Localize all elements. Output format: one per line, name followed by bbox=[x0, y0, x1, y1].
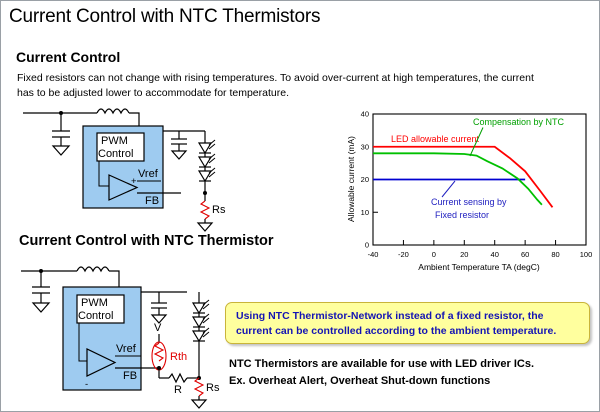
note-line-1: NTC Thermistors are available for use wi… bbox=[229, 356, 589, 373]
circuit2-rs-label: Rs bbox=[206, 382, 220, 394]
y-tick-10: 10 bbox=[361, 208, 369, 217]
y-axis-title: Allowable current (mA) bbox=[346, 136, 356, 222]
current-control-ntc-thermistor-circuit: PWM Control - Vref FB V Rth bbox=[19, 259, 259, 409]
circuit1-fb-label: FB bbox=[145, 195, 159, 207]
circuit1-control-label: Control bbox=[98, 148, 133, 160]
x-tick-0: 0 bbox=[432, 250, 436, 259]
circuit2-control-label: Control bbox=[78, 310, 113, 322]
section-heading-current-control: Current Control bbox=[16, 49, 120, 65]
callout-line-1: Using NTC Thermistor-Network instead of … bbox=[236, 310, 543, 322]
circuit2-r-label: R bbox=[174, 384, 182, 396]
x-tick-20: 20 bbox=[460, 250, 468, 259]
annotation-current-sensing-line2: Fixed resistor bbox=[435, 210, 489, 220]
page-title: Current Control with NTC Thermistors bbox=[9, 6, 320, 28]
slide-canvas: Current Control with NTC Thermistors Cur… bbox=[1, 1, 599, 411]
y-tick-40: 40 bbox=[361, 110, 369, 119]
circuit1-pwm-label: PWM bbox=[101, 135, 128, 147]
callout-line-2: current can be controlled according to t… bbox=[236, 325, 556, 337]
annotation-led-allowable-current: LED allowable current bbox=[391, 134, 480, 144]
x-tick-80: 80 bbox=[551, 250, 559, 259]
bottom-notes: NTC Thermistors are available for use wi… bbox=[229, 356, 589, 389]
note-line-2: Ex. Overheat Alert, Overheat Shut-down f… bbox=[229, 373, 589, 390]
y-tick-30: 30 bbox=[361, 142, 369, 151]
callout-text: Using NTC Thermistor-Network instead of … bbox=[236, 309, 583, 339]
circuit2-v-label: V bbox=[154, 322, 162, 334]
x-tick-60: 60 bbox=[521, 250, 529, 259]
x-tick-m20: -20 bbox=[398, 250, 409, 259]
circuit2-rth-label: Rth bbox=[170, 351, 187, 363]
x-tick-40: 40 bbox=[491, 250, 499, 259]
y-tick-0: 0 bbox=[365, 241, 369, 250]
current-control-fixed-resistor-circuit: PWM Control + Vref FB bbox=[19, 101, 259, 231]
allowable-current-vs-temperature-chart: 0 10 20 30 40 -40 -20 0 20 40 bbox=[343, 99, 595, 289]
callout-box: Using NTC Thermistor-Network instead of … bbox=[225, 302, 590, 344]
circuit2-pwm-label: PWM bbox=[81, 297, 108, 309]
intro-paragraph: Fixed resistors can not change with risi… bbox=[17, 71, 537, 101]
circuit1-vref-label: Vref bbox=[138, 168, 159, 180]
circuit2-opamp-minus: - bbox=[85, 379, 88, 390]
x-axis-title: Ambient Temperature TA (degC) bbox=[418, 262, 540, 272]
circuit2-fb-label: FB bbox=[123, 370, 137, 382]
x-tick-m40: -40 bbox=[368, 250, 379, 259]
y-tick-20: 20 bbox=[361, 175, 369, 184]
circuit1-opamp-plus: + bbox=[131, 176, 137, 187]
x-tick-100: 100 bbox=[580, 250, 593, 259]
section-heading-ntc-thermistor: Current Control with NTC Thermistor bbox=[19, 233, 274, 249]
annotation-current-sensing-line1: Current sensing by bbox=[431, 197, 507, 207]
circuit2-vref-label: Vref bbox=[116, 343, 137, 355]
annotation-compensation-by-ntc: Compensation by NTC bbox=[473, 117, 565, 127]
circuit1-rs-label: Rs bbox=[212, 204, 226, 216]
